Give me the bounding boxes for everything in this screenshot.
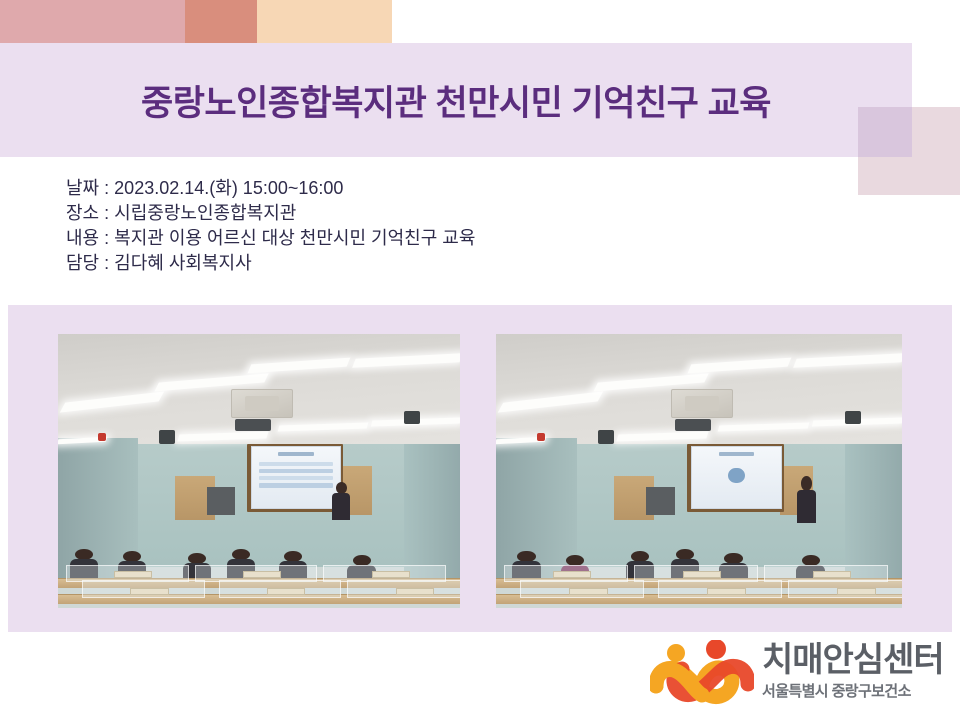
slide-row [259,462,333,466]
info-line-staff: 담당 : 김다혜 사회복지사 [66,251,475,276]
desk-name-card [813,571,852,578]
projection-screen [251,446,341,508]
info-line-place: 장소 : 시립중랑노인종합복지관 [66,201,475,226]
info-separator-place: : [104,203,109,223]
desk-name-card [130,588,168,595]
speaker [159,430,175,444]
desk-name-card [396,588,434,595]
info-block: 날짜 : 2023.02.14.(화) 15:00~16:00 장소 : 시립중… [66,176,475,276]
seating-area [496,509,902,608]
info-value-place: 시립중랑노인종합복지관 [114,203,296,223]
info-line-content: 내용 : 복지관 이용 어르신 대상 천만시민 기억친구 교육 [66,226,475,251]
info-value-staff: 김다혜 사회복지사 [114,253,251,273]
air-conditioner [231,389,293,418]
speaker [404,411,420,425]
desk-name-card [267,588,305,595]
info-label-date: 날짜 [66,178,99,198]
info-label-content: 내용 [66,228,99,248]
seating-area [58,509,460,608]
speaker [598,430,614,444]
slide-title-bar [719,452,755,456]
slide-row [259,476,333,480]
fire-alarm [537,433,545,441]
desk-name-card [553,571,592,578]
classroom-photo-right [496,334,902,608]
slide-row [259,483,333,487]
classroom-scene-left [58,334,460,608]
projector [675,419,712,431]
info-value-date: 2023.02.14.(화) 15:00~16:00 [114,178,343,198]
classroom-scene-right [496,334,902,608]
info-label-place: 장소 [66,203,99,223]
organization-logo: 치매안심센터 서울특별시 중랑구보건소 [650,638,946,712]
slide-title-bar [278,452,313,456]
desk-name-card [837,588,876,595]
two-figures-infinity-icon [650,640,754,708]
desk-name-card [372,571,410,578]
slide-canvas: 중랑노인종합복지관 천만시민 기억친구 교육 날짜 : 2023.02.14.(… [0,0,960,720]
page-title: 중랑노인종합복지관 천만시민 기억친구 교육 [0,43,912,157]
info-label-staff: 담당 [66,253,99,273]
logo-text-block: 치매안심센터 서울특별시 중랑구보건소 [762,638,946,710]
projector [235,419,271,431]
info-separator-staff: : [104,253,109,273]
slide-center-graphic [728,468,744,484]
desk-name-card [707,588,746,595]
info-separator-date: : [104,178,109,198]
air-conditioner [671,389,734,418]
fire-alarm [98,433,106,441]
info-value-content: 복지관 이용 어르신 대상 천만시민 기억친구 교육 [114,228,475,248]
desk-name-card [683,571,722,578]
desk-name-card [114,571,152,578]
classroom-photo-left [58,334,460,608]
desk-name-card [569,588,608,595]
desk-name-card [243,571,281,578]
slide-row [259,469,333,473]
projection-screen [691,446,782,508]
speaker [845,411,861,425]
logo-title: 치매안심센터 [762,638,946,682]
info-line-date: 날짜 : 2023.02.14.(화) 15:00~16:00 [66,176,475,201]
logo-subtitle: 서울특별시 중랑구보건소 [762,682,946,702]
info-separator-content: : [104,228,109,248]
